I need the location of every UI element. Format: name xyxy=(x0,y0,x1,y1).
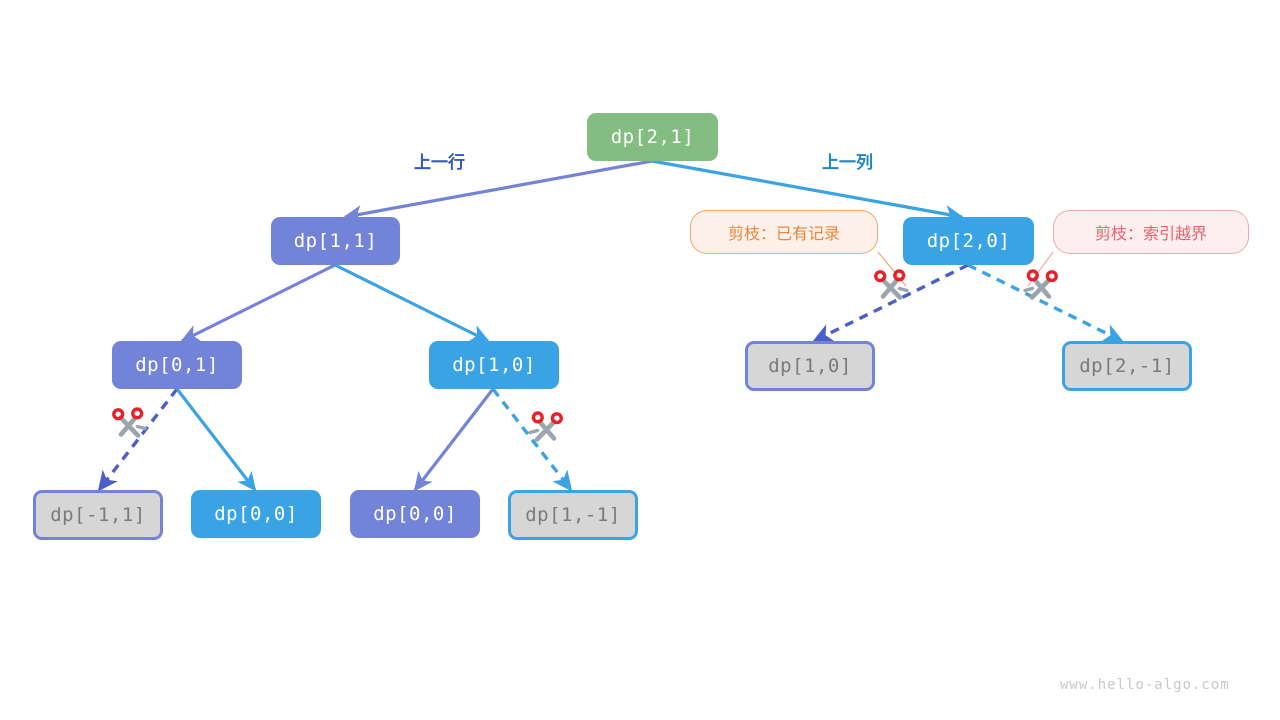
edge-e-1-1-to-1-0 xyxy=(335,265,488,341)
scissors-0-1-icon xyxy=(107,404,151,448)
node-label: dp[2,0] xyxy=(927,230,1011,252)
node-label: dp[1,1] xyxy=(294,230,378,252)
edge-root-to-2-0 xyxy=(652,161,962,217)
node-n-0-0-purple: dp[0,0] xyxy=(350,490,480,538)
node-label: dp[0,0] xyxy=(373,503,457,525)
scissors-2-0-l-icon xyxy=(869,266,913,310)
callout-text: 剪枝：索引越界 xyxy=(1095,220,1207,244)
edge-e-1-0-to-0-0 xyxy=(415,389,493,490)
scissors-1-0-icon xyxy=(524,408,568,452)
node-label: dp[2,1] xyxy=(611,126,695,148)
edge-e-0-1-to-0-0 xyxy=(177,389,255,490)
scissors-2-0-r-icon xyxy=(1019,266,1063,310)
node-n-2-0: dp[2,0] xyxy=(903,217,1034,265)
edge-label-prev-row: 上一行 xyxy=(414,148,465,173)
node-n-2-m1-gray: dp[2,-1] xyxy=(1062,341,1192,391)
callout-pruning-memo: 剪枝：已有记录 xyxy=(690,210,878,254)
node-label: dp[2,-1] xyxy=(1079,355,1175,377)
node-n-1-1: dp[1,1] xyxy=(271,217,400,265)
edge-label-prev-col: 上一列 xyxy=(822,148,873,173)
callout-pruning-bounds: 剪枝：索引越界 xyxy=(1053,210,1249,254)
node-n-1-m1-gray: dp[1,-1] xyxy=(508,490,638,540)
node-label: dp[0,1] xyxy=(135,354,219,376)
node-n-0-0-blue: dp[0,0] xyxy=(191,490,321,538)
node-root: dp[2,1] xyxy=(587,113,718,161)
node-label: dp[-1,1] xyxy=(50,504,146,526)
watermark: www.hello-algo.com xyxy=(1060,677,1230,693)
edge-root-to-1-1 xyxy=(345,161,652,217)
edge-e-1-1-to-0-1 xyxy=(182,265,335,341)
callout-text: 剪枝：已有记录 xyxy=(728,220,840,244)
diagram-canvas: dp[2,1]dp[1,1]dp[2,0]dp[0,1]dp[1,0]dp[1,… xyxy=(0,0,1280,720)
node-n-1-0: dp[1,0] xyxy=(429,341,559,389)
node-n-1-0-gray: dp[1,0] xyxy=(745,341,875,391)
node-label: dp[1,-1] xyxy=(525,504,621,526)
node-n-m1-1-gray: dp[-1,1] xyxy=(33,490,163,540)
node-label: dp[1,0] xyxy=(452,354,536,376)
node-n-0-1: dp[0,1] xyxy=(112,341,242,389)
node-label: dp[0,0] xyxy=(214,503,298,525)
node-label: dp[1,0] xyxy=(768,355,852,377)
